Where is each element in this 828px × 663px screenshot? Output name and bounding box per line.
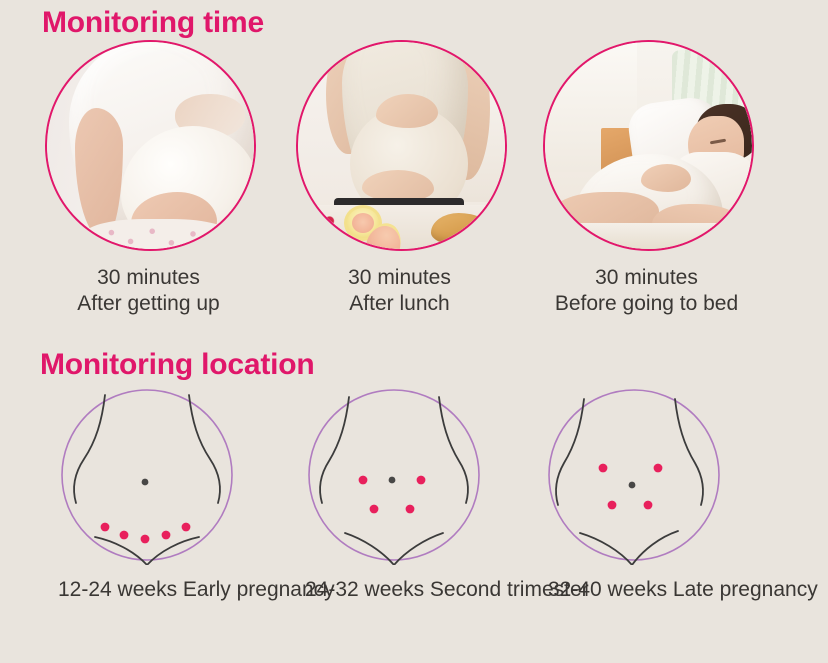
monitoring-dot [141, 535, 150, 544]
photo-woman-getting-up [45, 40, 256, 251]
monitoring-dot [120, 531, 129, 540]
loc-caption-3: 32-40 weeks Late pregnancy [548, 577, 728, 603]
monitoring-dot [644, 501, 653, 510]
right-groin-outline [147, 537, 199, 565]
diagram-ring [309, 390, 479, 560]
right-waist-outline [439, 397, 468, 503]
monitoring-location-item-1: 12-24 weeks Early pregnancy [58, 385, 238, 603]
belly-diagram-1 [58, 385, 238, 565]
left-waist-outline [320, 397, 349, 503]
grapefruit-flesh [352, 213, 374, 233]
monitoring-dot [406, 505, 415, 514]
photo-inner-3 [545, 42, 752, 249]
section-heading-monitoring-location: Monitoring location [40, 348, 315, 382]
monitoring-time-item-2: 30 minutes After lunch [296, 40, 503, 316]
monitoring-dot [417, 476, 426, 485]
bed-sheet-shape [545, 223, 752, 249]
loc-caption-3-line-2: Late pregnancy [673, 578, 818, 601]
left-waist-outline [556, 399, 584, 505]
monitoring-location-item-2: 24-32 weeks Second trimester [305, 385, 485, 603]
pastry-icon [431, 213, 491, 247]
left-waist-outline [74, 395, 105, 503]
right-waist-outline [189, 395, 220, 503]
right-waist-outline [675, 399, 703, 505]
hands-shape [641, 164, 691, 192]
caption-1-line-1: 30 minutes [45, 265, 252, 291]
caption-3-line-1: 30 minutes [543, 265, 750, 291]
photo-inner-1 [47, 42, 254, 249]
section-heading-monitoring-time: Monitoring time [42, 6, 264, 40]
monitoring-dot [608, 501, 617, 510]
caption-2-line-1: 30 minutes [296, 265, 503, 291]
monitoring-location-row: 12-24 weeks Early pregnancy [0, 385, 828, 650]
upper-hand-shape [376, 94, 438, 128]
monitoring-dots-group [101, 523, 191, 544]
belly-diagram-2 [305, 385, 485, 565]
monitoring-dot [654, 464, 663, 473]
belly-diagram-3 [548, 385, 728, 565]
diagram-ring [549, 390, 719, 560]
monitoring-time-row: 30 minutes After getting up [0, 40, 828, 330]
caption-1-line-2: After getting up [45, 291, 252, 317]
caption-3-line-2: Before going to bed [543, 291, 750, 317]
photo-woman-before-bed [543, 40, 754, 251]
left-groin-outline [95, 537, 147, 565]
photo-woman-after-lunch [296, 40, 507, 251]
berries-shape [300, 213, 336, 231]
monitoring-dot [599, 464, 608, 473]
navel-marker [629, 482, 636, 489]
monitoring-time-item-1: 30 minutes After getting up [45, 40, 252, 316]
monitoring-location-item-3: 32-40 weeks Late pregnancy [548, 385, 728, 603]
pants-pattern [97, 219, 217, 249]
monitoring-dot [370, 505, 379, 514]
loc-caption-1: 12-24 weeks Early pregnancy [58, 577, 238, 603]
infographic-page: Monitoring time 3 [0, 0, 828, 663]
caption-3: 30 minutes Before going to bed [543, 265, 750, 316]
monitoring-dot [162, 531, 171, 540]
navel-marker [142, 479, 149, 486]
monitoring-dot [182, 523, 191, 532]
caption-1: 30 minutes After getting up [45, 265, 252, 316]
monitoring-dot [101, 523, 110, 532]
loc-caption-1-line-1: 12-24 weeks [58, 578, 177, 601]
navel-marker [389, 477, 396, 484]
caption-2-line-2: After lunch [296, 291, 503, 317]
loc-caption-2-line-1: 24-32 weeks [305, 578, 424, 601]
diagram-ring [62, 390, 232, 560]
caption-2: 30 minutes After lunch [296, 265, 503, 316]
loc-caption-3-line-1: 32-40 weeks [548, 578, 667, 601]
photo-inner-2 [298, 42, 505, 249]
monitoring-dot [359, 476, 368, 485]
loc-caption-2: 24-32 weeks Second trimester [305, 577, 485, 603]
monitoring-time-item-3: 30 minutes Before going to bed [543, 40, 750, 316]
